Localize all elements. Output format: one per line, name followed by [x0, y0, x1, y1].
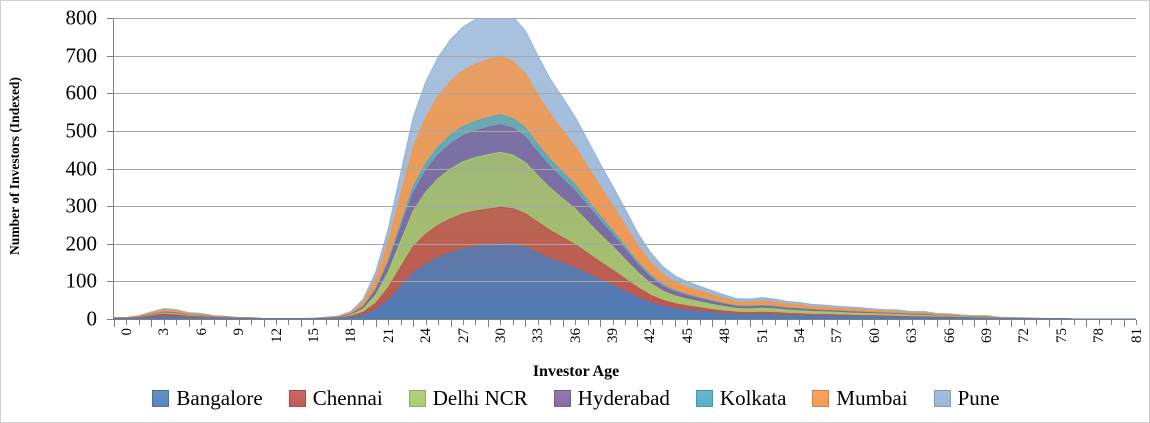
legend-label: Chennai [313, 388, 383, 409]
y-axis-tick-labels: 0100200300400500600700800 [27, 1, 105, 331]
x-tick-label: 33 [531, 328, 546, 343]
x-tick-label: 54 [793, 328, 808, 343]
x-tick-label: 15 [307, 328, 322, 343]
x-tick-mark [326, 320, 327, 325]
x-tick-label: 75 [1055, 328, 1070, 343]
y-tick-label: 500 [66, 120, 98, 141]
x-tick-mark [937, 320, 938, 327]
x-tick-label: 9 [232, 328, 247, 336]
legend-item-delhi-ncr[interactable]: Delhi NCR [409, 388, 528, 409]
x-tick-mark [588, 320, 589, 325]
x-tick-mark [251, 320, 252, 325]
x-tick-label: 3 [157, 328, 172, 336]
x-tick-label: 60 [868, 328, 883, 343]
legend-item-bangalore[interactable]: Bangalore [152, 388, 262, 409]
x-tick-mark [1061, 320, 1062, 325]
x-tick-mark [463, 320, 464, 325]
chart-legend: BangaloreChennaiDelhi NCRHyderabadKolkat… [1, 383, 1150, 413]
x-tick-mark [525, 320, 526, 327]
x-tick-mark [750, 320, 751, 327]
y-tick-label: 200 [66, 233, 98, 254]
x-tick-mark [114, 320, 115, 327]
x-tick-mark [675, 320, 676, 327]
x-tick-mark [438, 320, 439, 325]
plot-area [114, 18, 1136, 319]
x-tick-mark [862, 320, 863, 327]
gridline [114, 206, 1136, 207]
x-tick-label: 57 [830, 328, 845, 343]
legend-swatch-icon [934, 390, 951, 407]
x-tick-mark [712, 320, 713, 327]
legend-item-chennai[interactable]: Chennai [289, 388, 383, 409]
x-tick-label: 72 [1017, 328, 1032, 343]
gridline [114, 169, 1136, 170]
x-tick-mark [737, 320, 738, 325]
x-tick-label: 21 [382, 328, 397, 343]
x-tick-mark [376, 320, 377, 327]
y-tick-label: 300 [66, 196, 98, 217]
x-tick-mark [899, 320, 900, 327]
x-tick-mark [413, 320, 414, 327]
x-tick-mark [126, 320, 127, 325]
x-tick-mark [426, 320, 427, 325]
x-tick-mark [1074, 320, 1075, 325]
x-tick-mark [949, 320, 950, 325]
y-tick-label: 100 [66, 271, 98, 292]
x-tick-mark [837, 320, 838, 325]
x-tick-mark [189, 320, 190, 327]
x-tick-mark [700, 320, 701, 325]
y-tick-label: 800 [66, 8, 98, 29]
x-tick-mark [1049, 320, 1050, 327]
x-axis-ticks [114, 320, 1136, 328]
x-axis-tick-labels: 0369121518212427303336394245485154576063… [114, 328, 1136, 368]
legend-item-kolkata[interactable]: Kolkata [696, 388, 786, 409]
x-tick-mark [762, 320, 763, 325]
x-tick-mark [974, 320, 975, 327]
x-tick-mark [226, 320, 227, 327]
x-tick-mark [812, 320, 813, 325]
x-tick-mark [139, 320, 140, 325]
gridline [114, 131, 1136, 132]
x-tick-mark [1036, 320, 1037, 325]
x-tick-label: 66 [943, 328, 958, 343]
x-tick-mark [625, 320, 626, 325]
gridline [114, 56, 1136, 57]
x-tick-label: 42 [643, 328, 658, 343]
y-tick-label: 0 [87, 309, 98, 330]
x-tick-mark [151, 320, 152, 327]
x-tick-label: 51 [756, 328, 771, 343]
legend-label: Pune [958, 388, 1000, 409]
y-tick-label: 400 [66, 158, 98, 179]
x-tick-mark [962, 320, 963, 325]
x-tick-mark [500, 320, 501, 325]
x-tick-mark [662, 320, 663, 325]
x-tick-mark [1111, 320, 1112, 325]
x-tick-mark [351, 320, 352, 325]
x-tick-mark [1024, 320, 1025, 325]
x-tick-label: 6 [195, 328, 210, 336]
x-tick-mark [164, 320, 165, 325]
y-axis-title: Number of Investors (Indexed) [3, 1, 27, 331]
y-tick-label: 700 [66, 45, 98, 66]
legend-item-hyderabad[interactable]: Hyderabad [554, 388, 670, 409]
x-tick-mark [999, 320, 1000, 325]
x-tick-mark [613, 320, 614, 325]
x-tick-mark [313, 320, 314, 325]
x-tick-label: 48 [718, 328, 733, 343]
x-tick-label: 24 [419, 328, 434, 343]
x-tick-label: 63 [905, 328, 920, 343]
x-tick-mark [650, 320, 651, 325]
x-tick-mark [1124, 320, 1125, 327]
x-tick-mark [637, 320, 638, 327]
x-tick-mark [363, 320, 364, 325]
x-tick-mark [538, 320, 539, 325]
legend-label: Bangalore [176, 388, 262, 409]
x-axis-title: Investor Age [1, 363, 1150, 381]
x-tick-label: 30 [494, 328, 509, 343]
gridline [114, 244, 1136, 245]
legend-swatch-icon [812, 390, 829, 407]
x-tick-mark [214, 320, 215, 325]
x-tick-mark [388, 320, 389, 325]
x-tick-mark [239, 320, 240, 325]
x-tick-label: 69 [980, 328, 995, 343]
x-tick-mark [201, 320, 202, 325]
x-tick-mark [799, 320, 800, 325]
x-tick-mark [1136, 320, 1137, 325]
legend-swatch-icon [696, 390, 713, 407]
gridline [114, 93, 1136, 94]
legend-swatch-icon [409, 390, 426, 407]
x-tick-mark [874, 320, 875, 325]
x-tick-mark [887, 320, 888, 325]
x-tick-mark [401, 320, 402, 325]
x-tick-mark [924, 320, 925, 325]
x-tick-label: 45 [681, 328, 696, 343]
x-tick-mark [1099, 320, 1100, 325]
legend-label: Kolkata [720, 388, 786, 409]
x-tick-mark [575, 320, 576, 325]
x-tick-mark [1086, 320, 1087, 327]
x-tick-mark [513, 320, 514, 325]
x-tick-mark [488, 320, 489, 327]
x-tick-mark [264, 320, 265, 327]
x-tick-mark [687, 320, 688, 325]
x-tick-mark [176, 320, 177, 325]
x-tick-mark [338, 320, 339, 327]
y-tick-label: 600 [66, 83, 98, 104]
legend-swatch-icon [289, 390, 306, 407]
x-tick-mark [1011, 320, 1012, 327]
x-tick-label: 12 [270, 328, 285, 343]
x-tick-label: 81 [1130, 328, 1145, 343]
x-tick-label: 78 [1092, 328, 1107, 343]
x-tick-mark [986, 320, 987, 325]
x-tick-mark [824, 320, 825, 327]
x-tick-mark [550, 320, 551, 325]
x-tick-mark [725, 320, 726, 325]
x-tick-mark [475, 320, 476, 325]
x-tick-mark [563, 320, 564, 327]
x-tick-mark [787, 320, 788, 327]
x-tick-mark [288, 320, 289, 325]
x-tick-label: 36 [569, 328, 584, 343]
x-tick-label: 0 [120, 328, 135, 336]
legend-swatch-icon [554, 390, 571, 407]
chart-container: Investor Distribution: by age, by City N… [0, 0, 1150, 423]
legend-item-mumbai[interactable]: Mumbai [812, 388, 907, 409]
gridline [114, 18, 1136, 19]
legend-label: Hyderabad [578, 388, 670, 409]
x-tick-label: 18 [344, 328, 359, 343]
x-tick-label: 27 [457, 328, 472, 343]
gridline [114, 281, 1136, 282]
legend-label: Delhi NCR [433, 388, 528, 409]
x-tick-mark [301, 320, 302, 327]
x-tick-mark [849, 320, 850, 325]
legend-item-pune[interactable]: Pune [934, 388, 1000, 409]
x-tick-mark [775, 320, 776, 325]
x-tick-mark [451, 320, 452, 327]
legend-label: Mumbai [836, 388, 907, 409]
x-tick-mark [600, 320, 601, 327]
x-tick-mark [276, 320, 277, 325]
legend-swatch-icon [152, 390, 169, 407]
x-tick-label: 39 [606, 328, 621, 343]
y-axis-title-text: Number of Investors (Indexed) [7, 77, 23, 255]
x-tick-mark [912, 320, 913, 325]
